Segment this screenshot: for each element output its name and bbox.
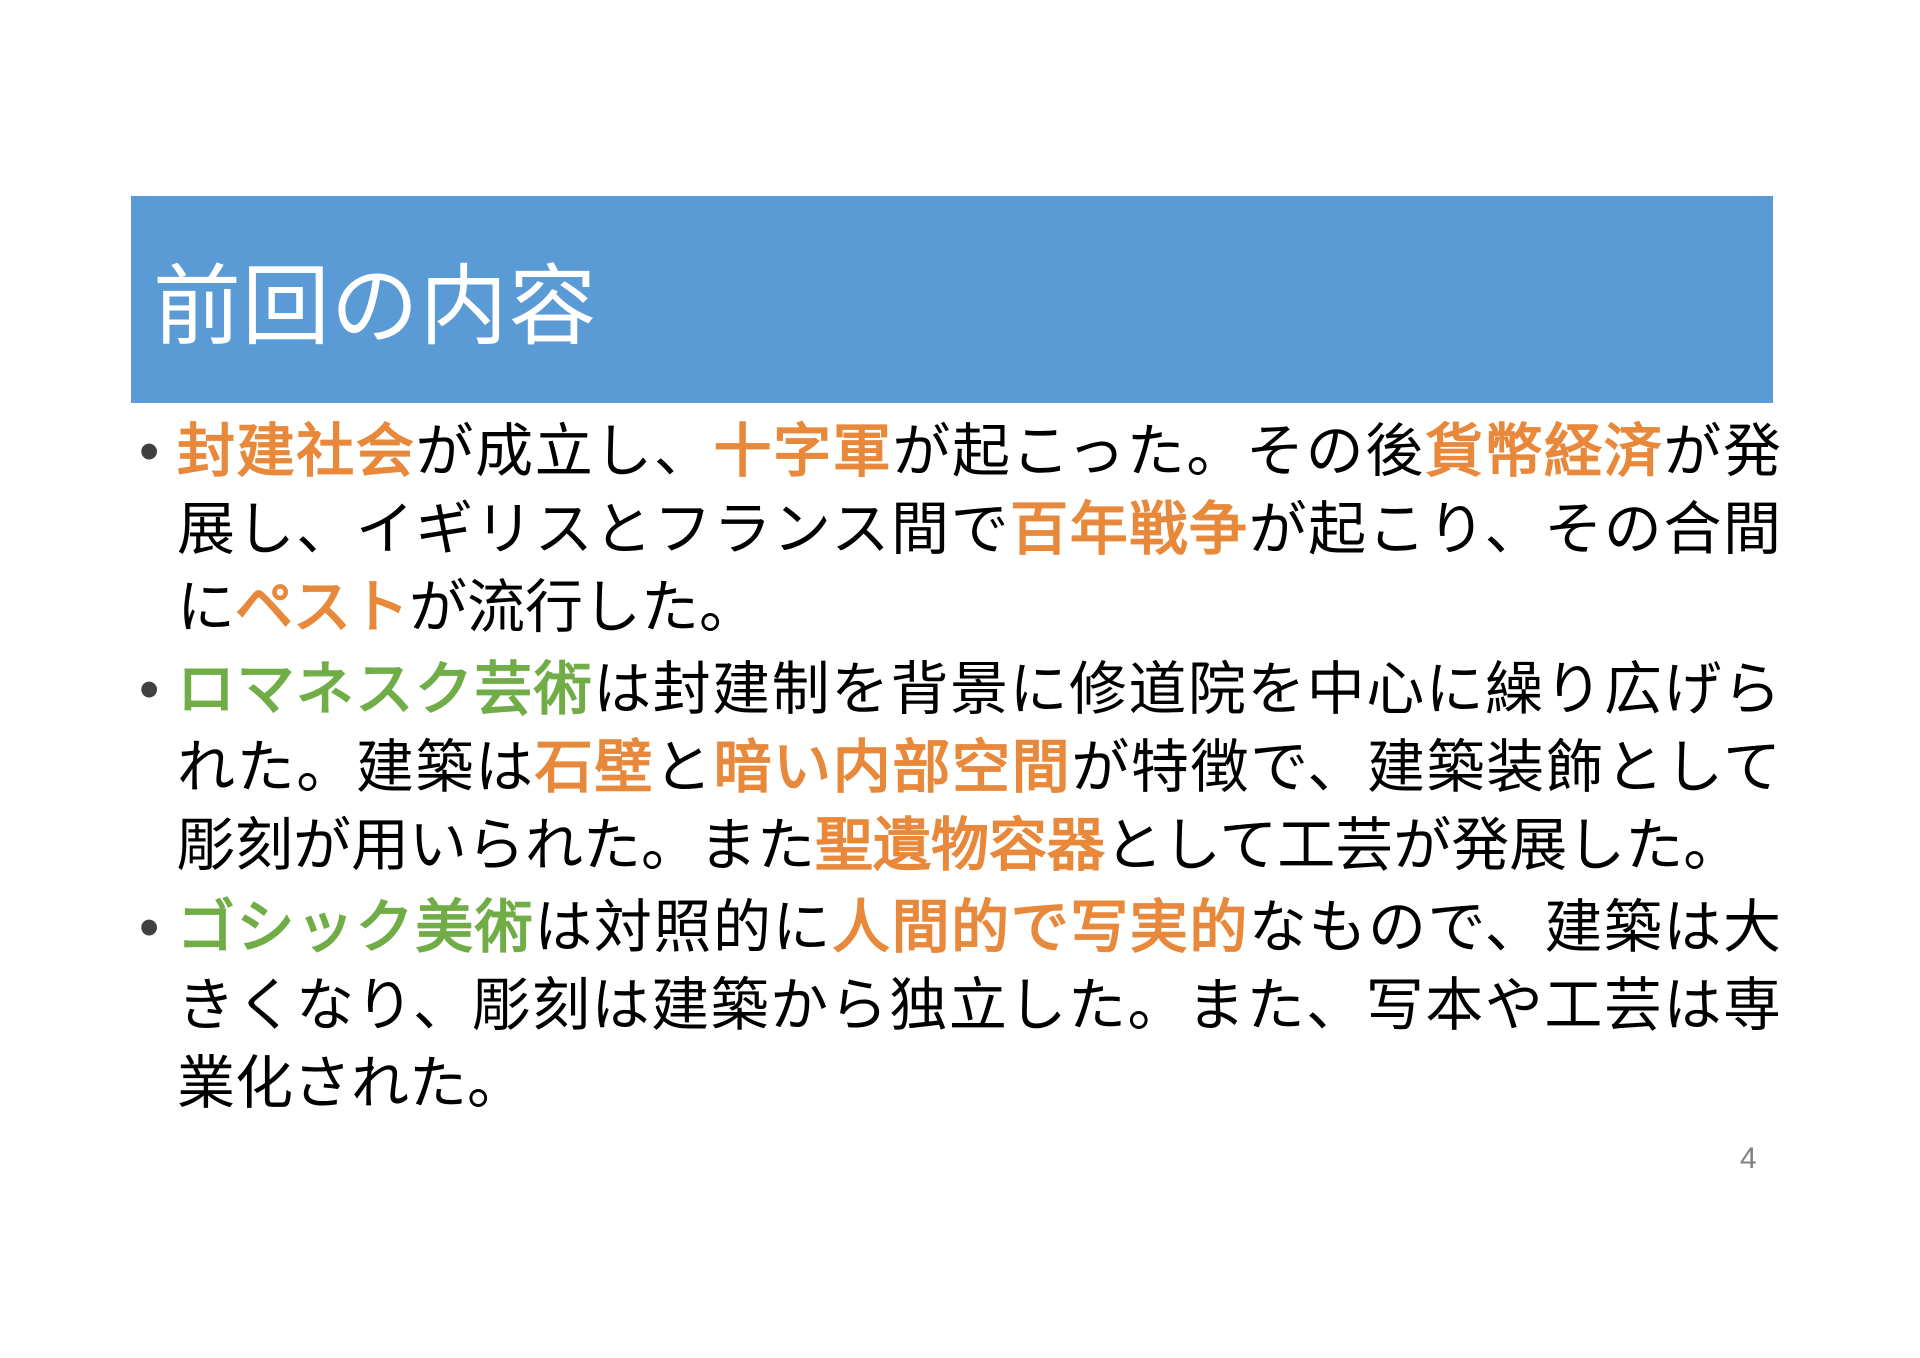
bullet-marker-icon: •: [131, 889, 177, 967]
plain-run: と: [654, 735, 714, 800]
highlight-run: 石壁: [535, 735, 654, 800]
list-item: • ゴシック美術は対照的に人間的で写実的なもので、建築は大きくなり、彫刻は建築か…: [131, 889, 1781, 1123]
plain-run: は対照的に: [534, 895, 832, 960]
bullet-paragraph-1: 封建社会が成立し、十字軍が起こった。その後貨幣経済が発展し、イギリスとフランス間…: [177, 413, 1781, 647]
page-number: 4: [1740, 1142, 1757, 1176]
list-item: • 封建社会が成立し、十字軍が起こった。その後貨幣経済が発展し、イギリスとフラン…: [131, 413, 1781, 647]
slide-canvas: 前回の内容 • 封建社会が成立し、十字軍が起こった。その後貨幣経済が発展し、イギ…: [0, 0, 1920, 1358]
plain-run: が成立し、: [415, 419, 713, 484]
bullet-marker-icon: •: [131, 413, 177, 491]
bullet-paragraph-3: ゴシック美術は対照的に人間的で写実的なもので、建築は大きくなり、彫刻は建築から独…: [177, 889, 1781, 1123]
highlight-run: 聖遺物容器: [815, 813, 1105, 878]
bullet-marker-icon: •: [131, 651, 177, 729]
highlight-run: 封建社会: [177, 419, 415, 484]
highlight-run: 暗い内部空間: [714, 735, 1072, 800]
highlight-run: ペスト: [235, 575, 409, 640]
page-title: 前回の内容: [131, 263, 597, 351]
highlight-run: 十字軍: [714, 419, 893, 484]
highlight-run: 百年戦争: [1010, 497, 1248, 562]
bullet-paragraph-2: ロマネスク芸術は封建制を背景に修道院を中心に繰り広げられた。建築は石壁と暗い内部…: [177, 651, 1781, 885]
slide-title-banner: 前回の内容: [131, 196, 1773, 403]
highlight-run: ロマネスク芸術: [177, 657, 593, 722]
highlight-run: 人間的で写実的: [832, 895, 1249, 960]
highlight-run: ゴシック美術: [177, 895, 534, 960]
list-item: • ロマネスク芸術は封建制を背景に修道院を中心に繰り広げられた。建築は石壁と暗い…: [131, 651, 1781, 885]
highlight-run: 貨幣経済: [1425, 419, 1663, 484]
plain-run: が流行した。: [409, 575, 757, 640]
plain-run: として工芸が発展した。: [1105, 813, 1741, 878]
slide-body-content: • 封建社会が成立し、十字軍が起こった。その後貨幣経済が発展し、イギリスとフラン…: [131, 413, 1781, 1127]
plain-run: が起こった。その後: [892, 419, 1424, 484]
